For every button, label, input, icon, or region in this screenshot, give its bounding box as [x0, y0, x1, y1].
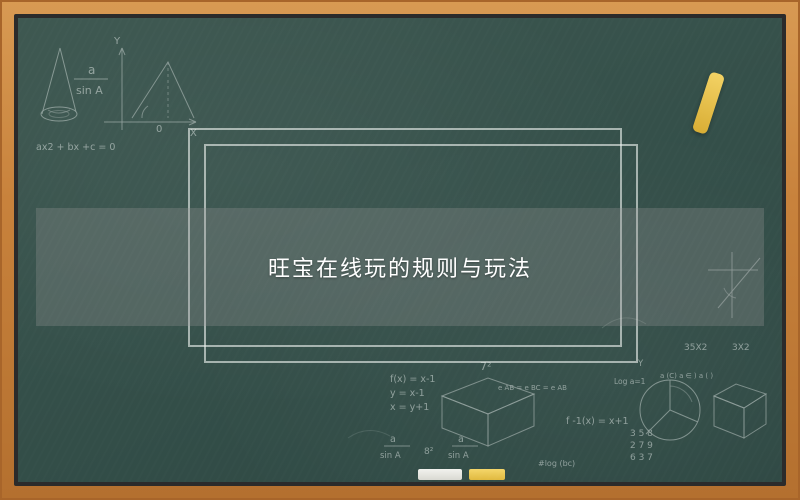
svg-text:8²: 8²	[424, 447, 434, 457]
svg-text:a: a	[88, 63, 95, 77]
svg-text:35X2: 35X2	[684, 343, 707, 353]
svg-text:3X2: 3X2	[732, 343, 750, 353]
svg-text:sin A: sin A	[76, 84, 103, 97]
svg-text:a: a	[458, 434, 464, 445]
white-chalk-stick	[418, 469, 462, 480]
svg-text:2 7 9: 2 7 9	[630, 441, 653, 451]
title-band: 旺宝在线玩的规则与玩法	[36, 208, 764, 326]
svg-text:6 3 7: 6 3 7	[630, 453, 653, 463]
doodle-inverse-group: f -1(x) = x+1 3 5 8 2 7 9 6 3 7 #log (bc…	[538, 416, 653, 468]
svg-text:0: 0	[156, 124, 162, 135]
doodle-axes-triangle	[104, 48, 196, 130]
svg-text:f(x) = x-1: f(x) = x-1	[390, 374, 435, 385]
page-title: 旺宝在线玩的规则与玩法	[268, 251, 532, 283]
doodle-equation-top: ax2 + bx +c = 0	[36, 142, 115, 153]
svg-text:3 5 8: 3 5 8	[630, 429, 653, 439]
doodle-fraction-top: a sin A	[76, 63, 103, 97]
doodle-cone	[41, 48, 77, 121]
yellow-chalk-stick	[469, 469, 505, 480]
svg-text:x = y+1: x = y+1	[390, 402, 429, 413]
svg-text:a: a	[390, 434, 396, 445]
svg-text:e AB = e BC = e AB: e AB = e BC = e AB	[498, 384, 567, 392]
doodle-func-group: f(x) = x-1 y = x-1 x = y+1 7² e AB = e B…	[380, 360, 567, 461]
svg-text:Y: Y	[637, 359, 644, 369]
chalkboard-banner: a sin A Y X 0	[0, 0, 800, 500]
svg-text:y = x-1: y = x-1	[390, 388, 425, 399]
svg-text:sin A: sin A	[380, 451, 401, 461]
svg-text:#log (bc): #log (bc)	[538, 459, 575, 468]
svg-text:a (C) a ∈ ) a ( ): a (C) a ∈ ) a ( )	[660, 372, 713, 380]
svg-text:ax2 + bx +c = 0: ax2 + bx +c = 0	[36, 142, 115, 153]
chalkboard-surface: a sin A Y X 0	[18, 18, 782, 482]
svg-text:Y: Y	[113, 36, 121, 47]
svg-text:f -1(x) = x+1: f -1(x) = x+1	[566, 416, 629, 427]
doodle-pie-chart	[640, 380, 700, 440]
svg-text:Log a=1: Log a=1	[614, 377, 646, 386]
doodle-cube-left	[442, 378, 534, 446]
doodle-cube-right	[714, 384, 766, 438]
svg-text:sin A: sin A	[448, 451, 469, 461]
